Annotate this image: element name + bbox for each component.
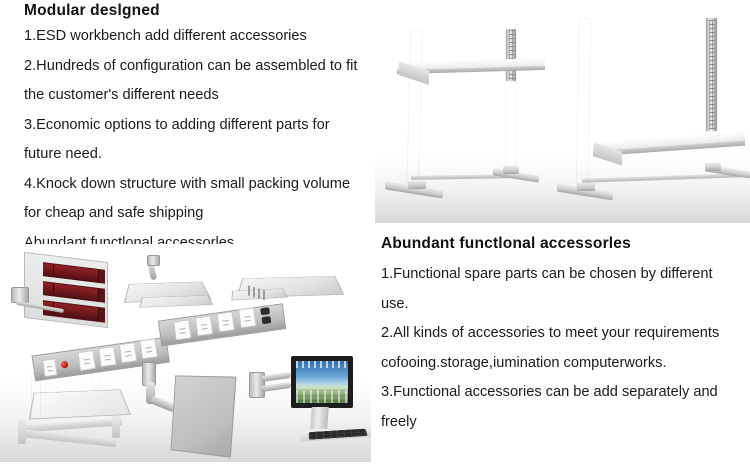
foot-right-joint-2: [705, 163, 721, 171]
intro-heading: Modular deslgned: [24, 0, 384, 22]
upright-post-right-perforated-2: [706, 18, 717, 131]
accessories-line-5: 3.Functional accessories can be add sepa…: [381, 378, 747, 408]
outlet-3[interactable]: [119, 342, 137, 363]
keyboard-shelf-surface: [29, 389, 131, 419]
power-indicator-led: [61, 361, 69, 369]
shelf-plate-lower-lip: [139, 295, 213, 307]
foot-right-joint: [503, 166, 519, 174]
power-connector-1: [260, 307, 270, 315]
upright-post-right-perforated: [506, 29, 516, 81]
outlet-6[interactable]: [195, 315, 213, 336]
outlet-2[interactable]: [98, 346, 116, 367]
foot-left-joint-2: [577, 183, 595, 191]
accessories-line-1: 1.Functional spare parts can be chosen b…: [381, 260, 747, 290]
bin-rack-body: [24, 252, 108, 328]
tilt-board-surface: [170, 375, 236, 457]
bin-rack-shelf-3: [43, 301, 105, 323]
outlet-7[interactable]: [216, 311, 234, 332]
monitor-arm-with-display: [249, 354, 369, 454]
intro-line-6: 4.Knock down structure with small packin…: [24, 170, 384, 200]
keyboard-shelf-leg-left: [18, 420, 26, 444]
accessories-text-block: Abundant functlonal accessorles 1.Functi…: [381, 233, 747, 437]
bin-rack: [24, 257, 106, 321]
tilting-keyboard-shelf: [14, 372, 126, 454]
workbench-frames-photo: [375, 0, 750, 223]
outlet-1[interactable]: [78, 350, 96, 371]
intro-line-7: for cheap and safe shipping: [24, 199, 384, 229]
monitor-arm-segment-1: [261, 372, 292, 382]
monitor-screen-content: [296, 361, 348, 403]
outlet-5[interactable]: [173, 319, 191, 340]
keyboard-shelf-rail-bottom: [20, 429, 116, 447]
intro-line-5: future need.: [24, 140, 384, 170]
keyboard-keys[interactable]: [309, 429, 368, 440]
keyboard-shelf-post-right: [92, 370, 100, 388]
accessories-line-4: cofooing.storage,iumination computerwork…: [381, 349, 747, 379]
bin-rack-shelf-1: [43, 262, 105, 284]
intro-line-2: 2.Hundreds of configuration can be assem…: [24, 52, 384, 82]
monitor-keyboard-tray: [300, 427, 371, 441]
shelf-plate-with-bracket: [127, 266, 205, 310]
shelf-plate-bracket: [147, 255, 160, 266]
accessories-montage-photo: [0, 244, 371, 462]
keyboard-shelf-leg-right: [112, 416, 120, 438]
intro-line-1: 1.ESD workbench add different accessorie…: [24, 22, 384, 52]
bin-rack-shelf-2: [43, 281, 105, 303]
intro-line-3: the customer's different needs: [24, 81, 384, 111]
outlet-4[interactable]: [139, 338, 157, 359]
keyboard-shelf-post-left: [32, 374, 40, 418]
upright-post-right-lower: [506, 78, 515, 166]
foot-left-joint: [408, 181, 426, 189]
accessories-line-2: use.: [381, 290, 747, 320]
monitor-display[interactable]: [291, 356, 353, 408]
modular-design-text-block: Modular deslgned 1.ESD workbench add dif…: [24, 0, 384, 258]
outlet-8[interactable]: [238, 307, 256, 328]
accessories-line-6: freely: [381, 408, 747, 438]
intro-line-4: 3.Economic options to adding different p…: [24, 111, 384, 141]
articulating-arm-with-board: [140, 362, 236, 454]
monitor-stand-column: [310, 407, 329, 429]
product-description-page: Modular deslgned 1.ESD workbench add dif…: [0, 0, 750, 473]
monitor-arm-segment-2: [261, 382, 292, 392]
power-connector-2: [261, 316, 271, 324]
accessories-line-3: 2.All kinds of accessories to meet your …: [381, 319, 747, 349]
accessories-heading: Abundant functlonal accessorles: [381, 233, 747, 255]
